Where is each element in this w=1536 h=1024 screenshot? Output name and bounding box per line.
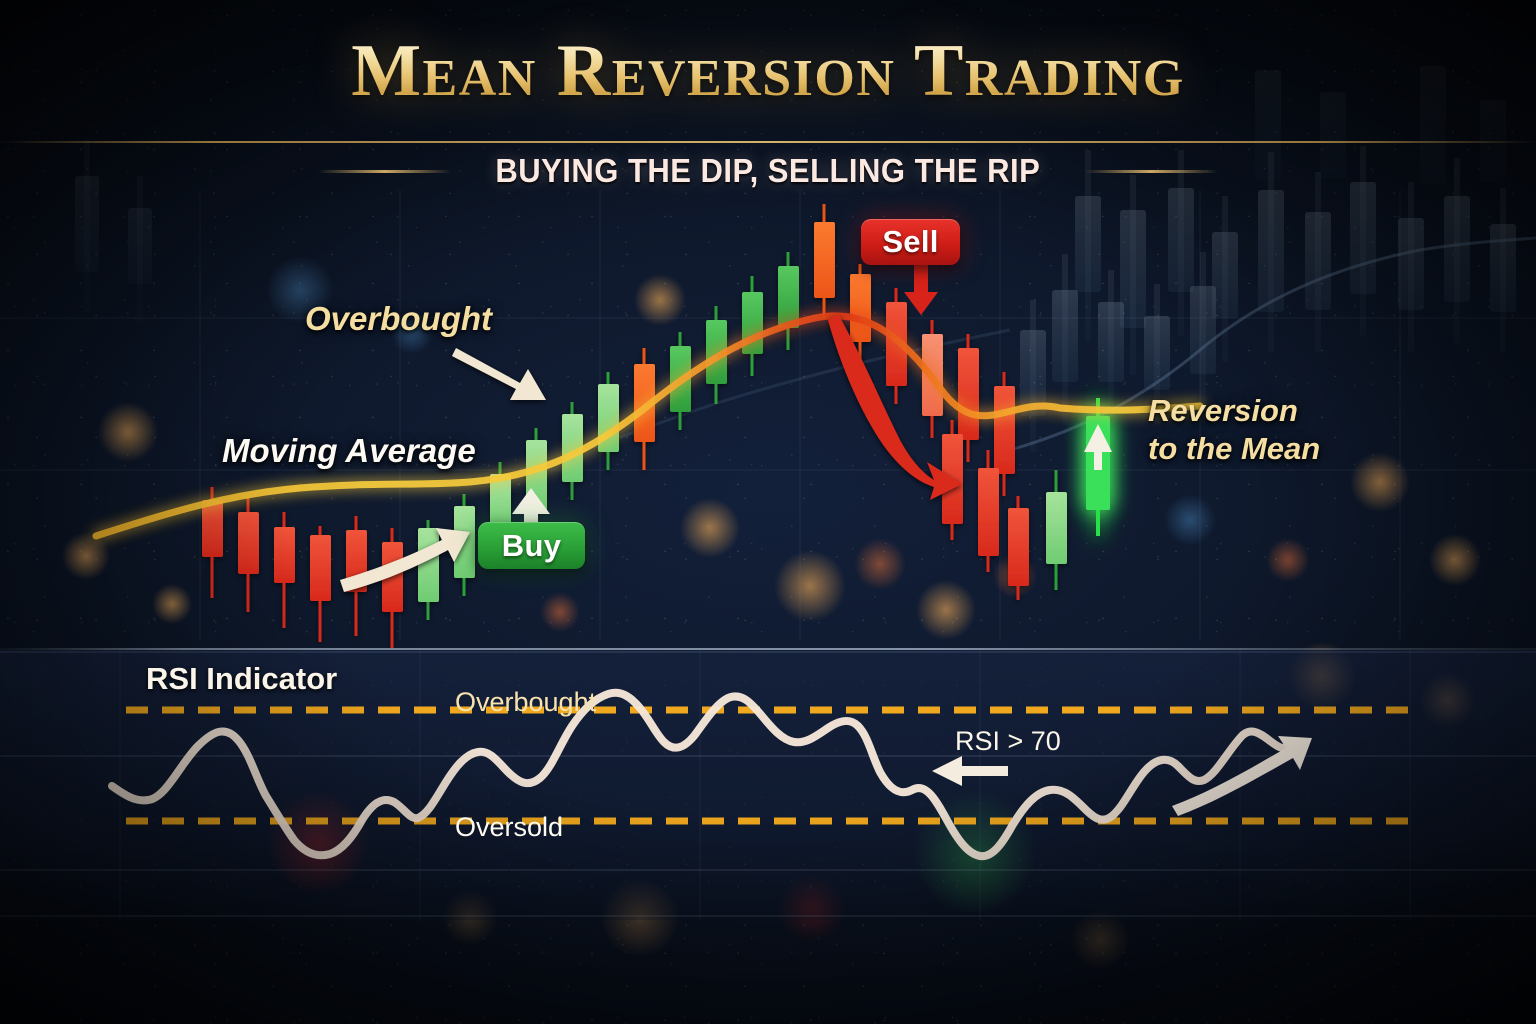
page-subtitle: Buying the Dip, Selling the Rip bbox=[496, 152, 1041, 190]
buy-signal-badge[interactable]: Buy bbox=[478, 522, 585, 569]
header-rule bbox=[0, 141, 1536, 143]
rsi-line bbox=[112, 693, 1290, 856]
sell-signal-badge[interactable]: Sell bbox=[861, 219, 960, 265]
infographic-canvas: Mean Reversion Trading Buying the Dip, S… bbox=[0, 0, 1536, 1024]
rsi-left-arrow-icon bbox=[932, 756, 1008, 786]
header: Mean Reversion Trading bbox=[0, 34, 1536, 108]
subtitle-row: Buying the Dip, Selling the Rip bbox=[0, 152, 1536, 190]
rsi-gridlines bbox=[0, 652, 1536, 916]
page-title: Mean Reversion Trading bbox=[0, 34, 1536, 108]
subtitle-dash-left bbox=[318, 170, 452, 173]
subtitle-dash-right bbox=[1084, 170, 1218, 173]
